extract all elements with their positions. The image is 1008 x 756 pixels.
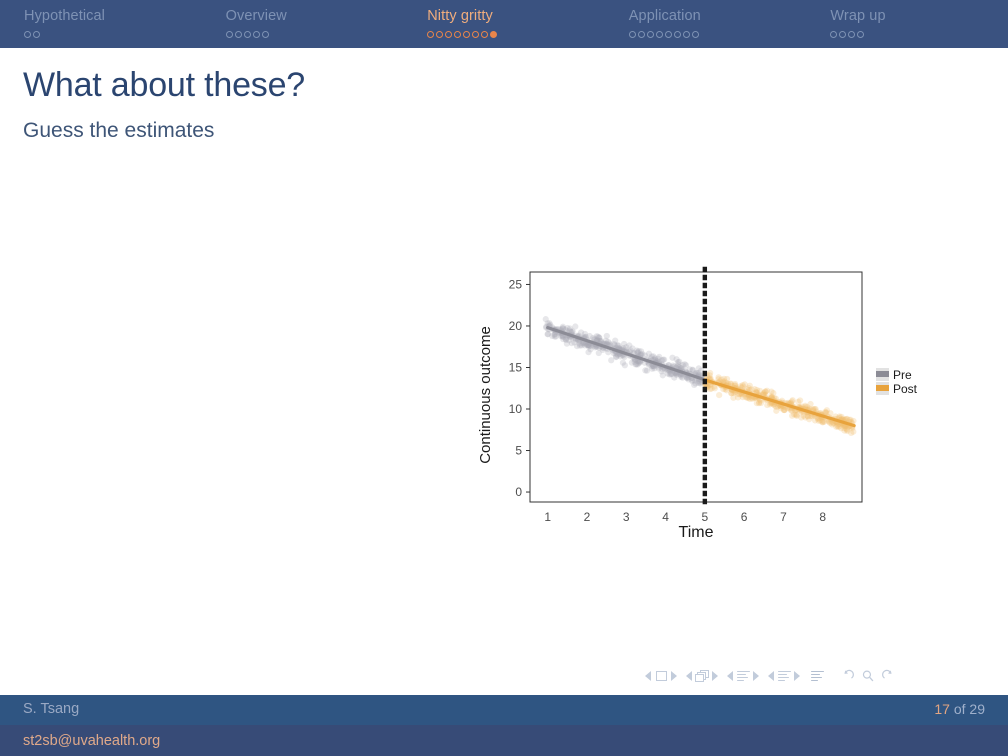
y-tick-label: 20 [509,319,523,333]
next-frame-icon[interactable] [712,671,718,681]
y-tick-label: 10 [509,402,523,416]
nav-section-hypothetical[interactable]: Hypothetical [0,0,202,39]
nav-dot[interactable] [656,31,663,38]
nav-section-nitty-gritty[interactable]: Nitty gritty [403,0,605,39]
nav-section-dots [830,29,1008,39]
previous-subsection-icon[interactable] [727,671,733,681]
nav-dot[interactable] [647,31,654,38]
chart-legend: PrePost [876,368,918,396]
scatter-point [544,331,550,337]
beamer-navigation-symbols[interactable] [645,662,1000,690]
scatter-point [564,325,570,331]
x-tick-label: 6 [741,510,748,524]
nav-dot[interactable] [463,31,470,38]
nav-section-dots [24,29,202,39]
stacked-squares-icon[interactable] [694,669,710,683]
nav-section-application[interactable]: Application [605,0,807,39]
scatter-point [594,333,600,339]
scatter-point [716,392,722,398]
scatter-point [614,342,620,348]
nav-dot[interactable] [24,31,31,38]
previous-frame-icon[interactable] [686,671,692,681]
nav-dot[interactable] [253,31,260,38]
header-navigation-bar: HypotheticalOverviewNitty grittyApplicat… [0,0,1008,48]
subsection-navigation-group[interactable] [727,669,759,683]
previous-section-icon[interactable] [768,671,774,681]
x-tick-label: 2 [584,510,591,524]
interrupted-time-series-scatter-chart: Continuous outcome 0510152025 12345678 T… [470,265,940,555]
nav-dot[interactable] [481,31,488,38]
scatter-point [812,406,818,412]
subsection-lines-icon[interactable] [735,669,751,683]
scatter-point [661,356,667,362]
scatter-point [740,382,746,388]
x-tick-label: 4 [662,510,669,524]
x-axis-ticks: 12345678 [544,510,826,524]
search-icon[interactable] [861,669,875,683]
footer-page-number: 17 of 29 [934,701,985,717]
nav-section-wrap-up[interactable]: Wrap up [806,0,1008,39]
document-lines-icon[interactable] [809,669,825,683]
scatter-point [660,372,666,378]
nav-dot[interactable] [674,31,681,38]
page-total: 29 [969,701,985,717]
nav-dot[interactable] [665,31,672,38]
nav-dot[interactable] [848,31,855,38]
chart-container: Continuous outcome 0510152025 12345678 T… [470,265,940,555]
square-icon[interactable] [653,669,669,683]
nav-dot[interactable] [839,31,846,38]
scatter-point [715,376,721,382]
nav-dot[interactable] [235,31,242,38]
doc-tools-group[interactable] [841,669,895,683]
x-tick-label: 5 [701,510,708,524]
nav-dot[interactable] [629,31,636,38]
scatter-point [621,341,627,347]
nav-section-dots [427,29,605,39]
nav-dot[interactable] [427,31,434,38]
scatter-point [761,390,767,396]
scatter-point [773,404,779,410]
nav-dot[interactable] [454,31,461,38]
nav-section-dots [226,29,404,39]
y-tick-label: 25 [509,277,523,291]
x-tick-label: 7 [780,510,787,524]
nav-dot[interactable] [830,31,837,38]
nav-section-label: Nitty gritty [427,9,605,24]
nav-dot[interactable] [472,31,479,38]
section-lines-icon[interactable] [776,669,792,683]
legend-label: Post [893,382,918,396]
scatter-point [795,399,801,405]
nav-dot[interactable] [33,31,40,38]
scatter-point [642,367,648,373]
y-tick-label: 15 [509,360,523,374]
scatter-point [675,359,681,365]
next-slide-icon[interactable] [671,671,677,681]
frame-navigation-group[interactable] [686,669,718,683]
scatter-point [622,362,628,368]
page-subtitle: Guess the estimates [23,119,214,143]
nav-section-label: Wrap up [830,9,1008,24]
footer-bar-top [0,695,1008,725]
next-section-icon[interactable] [794,671,800,681]
x-axis-label: Time [679,524,714,541]
scatter-point [768,389,774,395]
footer-author: S. Tsang [23,701,79,717]
slide-navigation-group[interactable] [645,669,677,683]
scatter-point [585,349,591,355]
scatter-point [577,342,583,348]
page-of-label: of [954,701,966,717]
nav-dot[interactable] [490,31,497,38]
nav-section-label: Application [629,9,807,24]
section-navigation-group[interactable] [768,669,800,683]
nav-dot[interactable] [683,31,690,38]
legend-swatch [876,371,889,377]
nav-section-dots [629,29,807,39]
scatter-point [682,361,688,367]
scatter-point [607,340,613,346]
forward-arrow-icon[interactable] [881,669,895,683]
legend-label: Pre [893,368,912,382]
y-axis-label: Continuous outcome [477,326,494,464]
nav-dot[interactable] [436,31,443,38]
x-tick-label: 3 [623,510,630,524]
previous-slide-icon[interactable] [645,671,651,681]
y-tick-label: 5 [515,444,522,458]
y-tick-label: 0 [515,485,522,499]
back-arrow-icon[interactable] [841,669,855,683]
footer-email[interactable]: st2sb@uvahealth.org [23,733,160,749]
page-current: 17 [934,701,950,717]
scatter-point [730,395,736,401]
nav-section-label: Overview [226,9,404,24]
x-tick-label: 8 [819,510,826,524]
nav-dot[interactable] [638,31,645,38]
nav-dot[interactable] [857,31,864,38]
page-title: What about these? [23,66,305,105]
nav-section-overview[interactable]: Overview [202,0,404,39]
nav-dot[interactable] [445,31,452,38]
nav-dot[interactable] [262,31,269,38]
y-axis-ticks: 0510152025 [509,277,530,499]
nav-dot[interactable] [244,31,251,38]
nav-section-label: Hypothetical [24,9,202,24]
scatter-point [546,320,552,326]
scatter-point [669,355,675,361]
scatter-point [824,407,830,413]
next-subsection-icon[interactable] [753,671,759,681]
scatter-point [794,412,800,418]
legend-swatch [876,385,889,391]
nav-dot[interactable] [226,31,233,38]
nav-dot[interactable] [692,31,699,38]
x-tick-label: 1 [544,510,551,524]
